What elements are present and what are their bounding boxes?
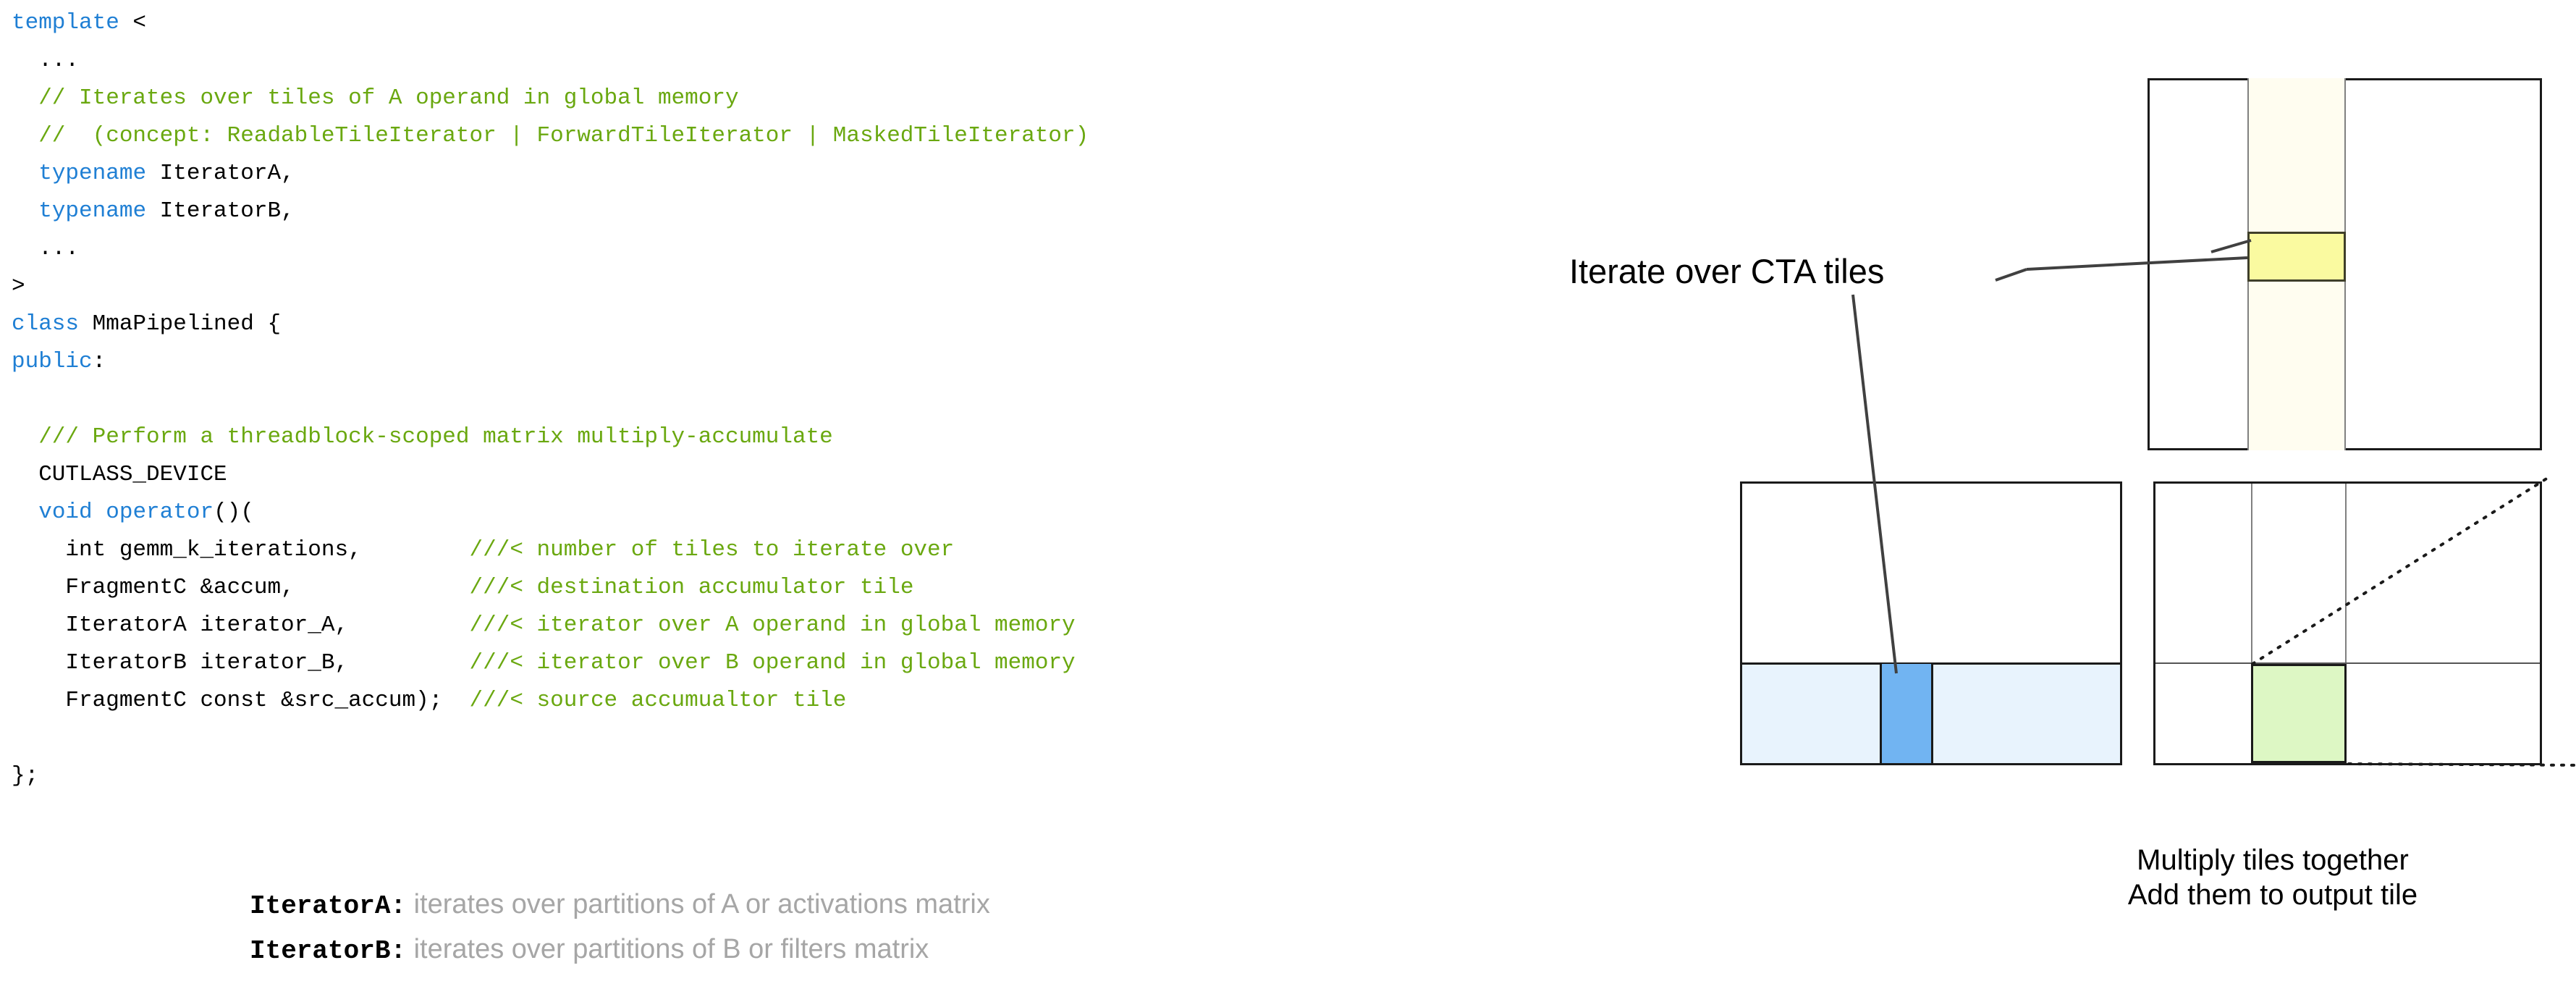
callout-leader-lines [1520,72,2316,796]
multiply-add-caption: Multiply tiles together Add them to outp… [1983,843,2562,912]
caption-line-2: Add them to output tile [1983,878,2562,912]
caption-line-1: Multiply tiles together [1983,843,2562,878]
gemm-tile-diagram: Iterate over CTA tiles Multiply tiles to… [0,0,2576,989]
